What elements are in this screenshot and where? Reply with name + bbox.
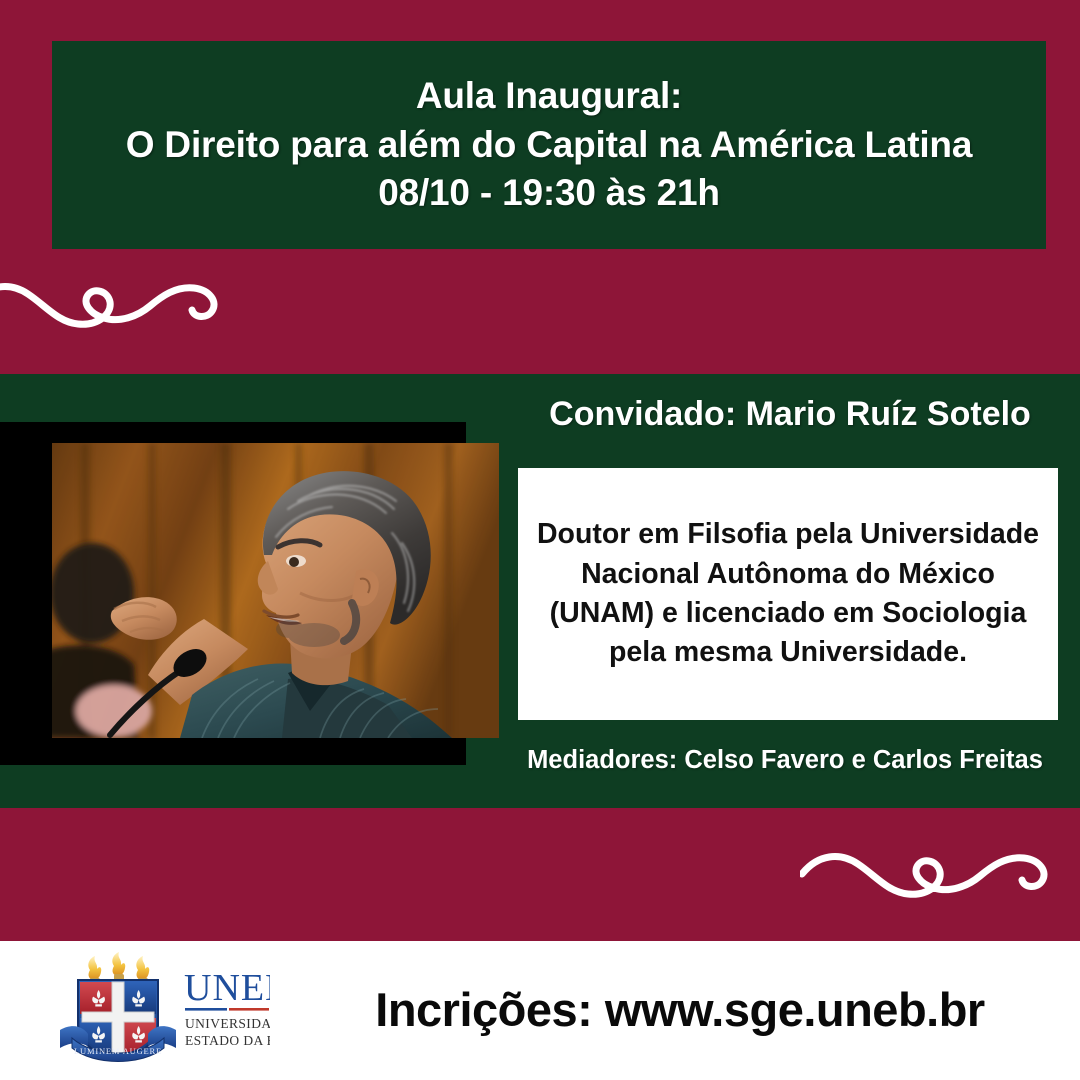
- guest-name-label: Convidado: Mario Ruíz Sotelo: [505, 396, 1075, 433]
- speaker-bio-box: Doutor em Filsofia pela Universidade Nac…: [518, 468, 1058, 720]
- signup-url-label[interactable]: Incrições: www.sge.uneb.br: [300, 985, 1060, 1034]
- poster-canvas: Aula Inaugural: O Direito para além do C…: [0, 0, 1080, 1080]
- speaker-photo: [52, 443, 499, 738]
- logo-motto-text: LUMINEM AUGERE: [74, 1046, 162, 1056]
- bottom-maroon-band: [0, 808, 1080, 941]
- mediators-label: Mediadores: Celso Favero e Carlos Freita…: [495, 746, 1075, 775]
- speaker-bio-text: Doutor em Filsofia pela Universidade Nac…: [518, 515, 1058, 672]
- header-line-3: 08/10 - 19:30 às 21h: [378, 169, 720, 218]
- header-title-box: Aula Inaugural: O Direito para além do C…: [52, 41, 1046, 249]
- logo-line2-text: ESTADO DA BAHIA: [185, 1033, 270, 1048]
- header-line-1: Aula Inaugural:: [416, 72, 682, 121]
- logo-line1-text: UNIVERSIDADE DO: [185, 1016, 270, 1031]
- header-line-2: O Direito para além do Capital na Améric…: [126, 121, 972, 170]
- uneb-logo: LUMINEM AUGERE UNEB UNIVERSIDADE DO ESTA…: [58, 952, 270, 1070]
- logo-acronym-text: UNEB: [184, 967, 270, 1009]
